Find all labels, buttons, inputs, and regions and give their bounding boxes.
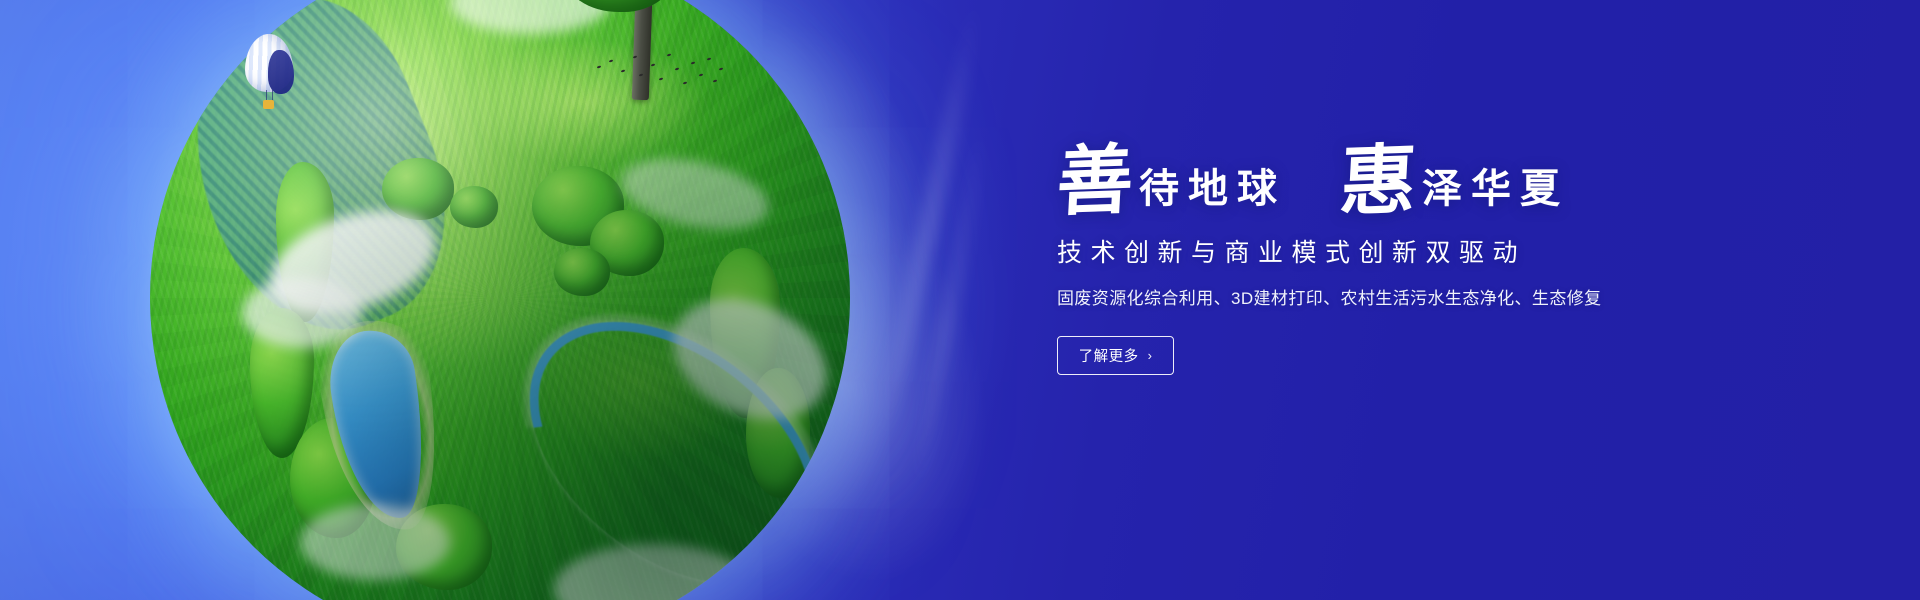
hot-air-balloon-icon <box>245 34 293 118</box>
hero-banner: 善 待地球 惠 泽华夏 技术创新与商业模式创新双驱动 固废资源化综合利用、3D建… <box>0 0 1920 600</box>
tree-clump <box>450 186 498 228</box>
headline-rest-chars-1: 待地球 <box>1139 169 1286 218</box>
banner-content: 善 待地球 惠 泽华夏 技术创新与商业模式创新双驱动 固废资源化综合利用、3D建… <box>1057 148 1777 375</box>
learn-more-label: 了解更多 <box>1079 345 1139 366</box>
learn-more-button[interactable]: 了解更多 › <box>1057 336 1174 375</box>
subtitle: 技术创新与商业模式创新双驱动 <box>1057 238 1777 268</box>
headline-rest-chars-2: 泽华夏 <box>1422 169 1569 218</box>
headline-big-char-1: 善 <box>1055 147 1135 220</box>
headline-big-char-2: 惠 <box>1338 147 1418 220</box>
balloon-envelope-shadow <box>268 50 294 94</box>
tree-canopy <box>564 0 676 12</box>
cloud-streak <box>872 0 987 447</box>
tree-clump <box>554 248 610 296</box>
balloon-basket <box>263 100 274 109</box>
description: 固废资源化综合利用、3D建材打印、农村生活污水生态净化、生态修复 <box>1057 288 1777 310</box>
chevron-right-icon: › <box>1148 348 1153 363</box>
cloud-streak <box>909 119 991 496</box>
headline-phrase-1: 善 待地球 <box>1057 148 1286 218</box>
headline: 善 待地球 惠 泽华夏 <box>1057 148 1777 218</box>
headline-phrase-2: 惠 泽华夏 <box>1340 148 1569 218</box>
birds-icon <box>595 52 725 94</box>
globe-illustration <box>150 0 850 600</box>
globe-cloud <box>242 278 362 348</box>
tree-bottom <box>172 456 385 600</box>
